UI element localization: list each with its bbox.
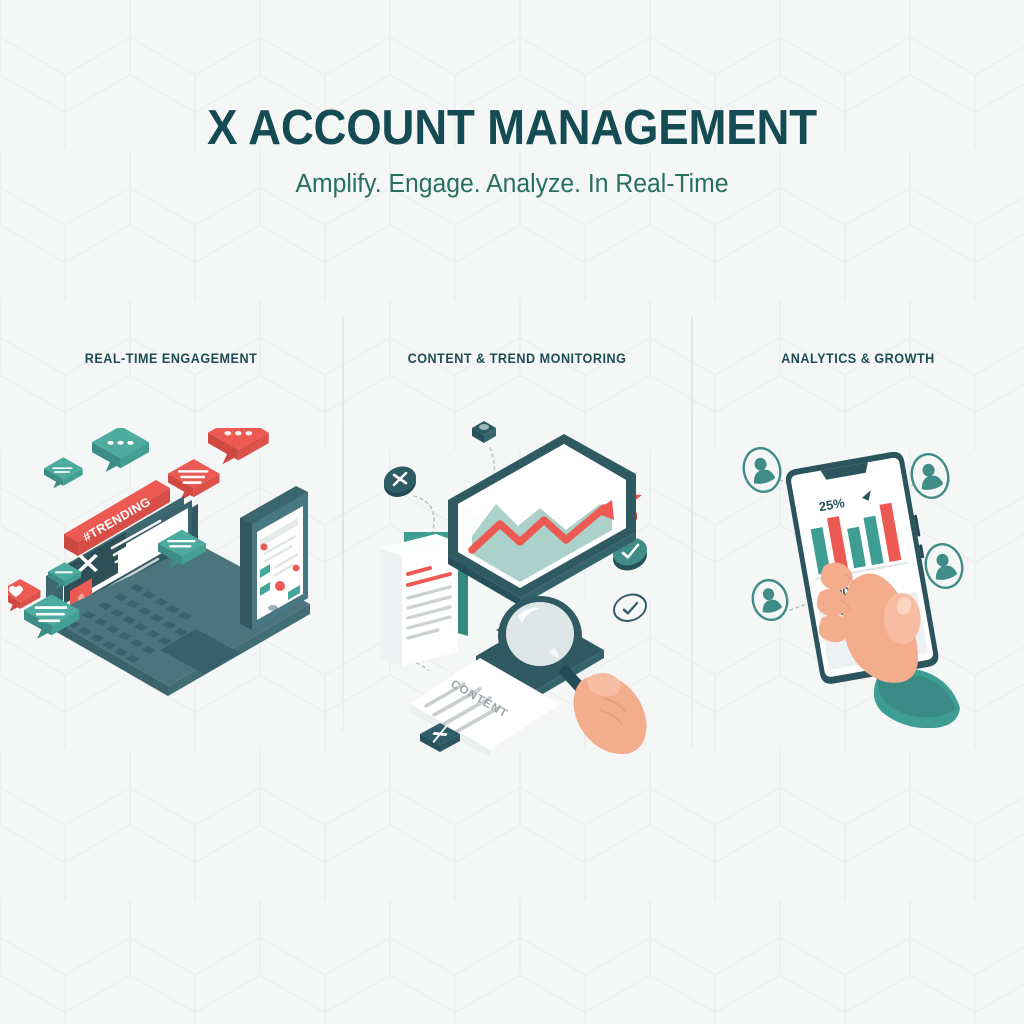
speech-bubble-teal-small-upper <box>44 457 83 488</box>
x-badge-icon <box>384 465 416 499</box>
page-subtitle: Amplify. Engage. Analyze. In Real-Time <box>15 153 1008 198</box>
illustration-content-trend-monitoring: CONTENT <box>368 408 676 756</box>
section-heading-content-trend-monitoring: CONTENT & TREND MONITORING <box>353 351 682 366</box>
pin-badge <box>472 421 496 443</box>
illustration-analytics-growth: 25% 100% <box>728 428 1008 728</box>
speech-bubble-teal-dots <box>92 428 149 472</box>
avatar-badge-right <box>921 540 967 591</box>
hand-holding-magnifier <box>574 673 647 754</box>
check-badge-outline <box>614 593 646 623</box>
header: X ACCOUNT MANAGEMENT Amplify. Engage. An… <box>0 0 1024 198</box>
column-divider-2 <box>691 316 693 746</box>
avatar-badge-top-right <box>907 450 953 501</box>
section-heading-real-time-engagement: REAL-TIME ENGAGEMENT <box>10 351 331 366</box>
speech-bubble-red-lines <box>168 459 220 500</box>
column-divider-1 <box>342 316 344 730</box>
infographic-canvas: X ACCOUNT MANAGEMENT Amplify. Engage. An… <box>0 0 1024 1024</box>
section-heading-analytics-growth: ANALYTICS & GROWTH <box>702 351 1014 366</box>
page-title: X ACCOUNT MANAGEMENT <box>36 0 988 153</box>
avatar-badge-top-left <box>739 444 785 495</box>
document-stack <box>380 534 458 666</box>
speech-bubble-red-dots <box>208 428 269 464</box>
illustration-real-time-engagement: #TRENDING <box>8 428 328 748</box>
avatar-badge-bottom-left <box>749 576 792 623</box>
